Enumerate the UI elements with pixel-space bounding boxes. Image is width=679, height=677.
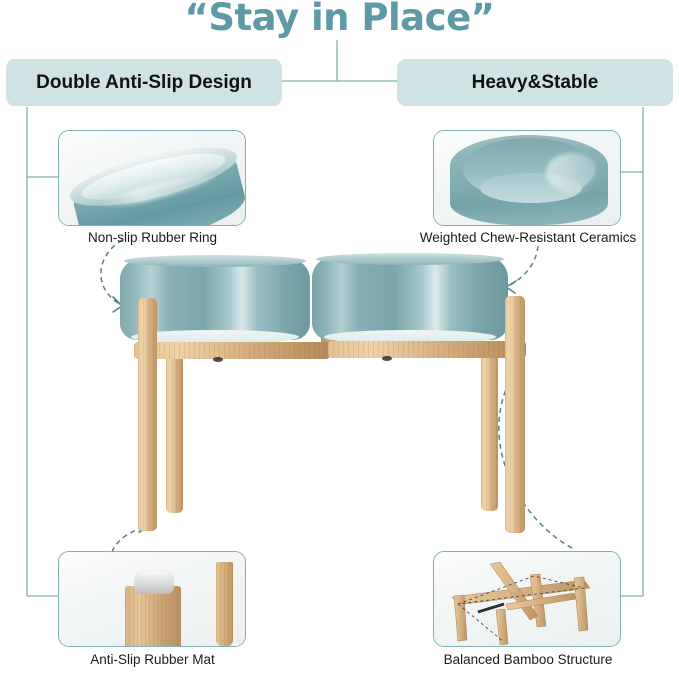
feature-box-label: Heavy&Stable: [472, 72, 599, 94]
callout-image-frame: [58, 551, 246, 647]
photo-bamboo-frame-triangulation: [434, 552, 620, 646]
infographic-canvas: “Stay in Place” Double Anti-Slip Design …: [0, 0, 679, 677]
bowl-tilted-underside-art: [58, 130, 246, 226]
page-title: “Stay in Place”: [0, 0, 679, 39]
bamboo-leg-front-right: [505, 296, 525, 533]
bamboo-frame-art: [434, 552, 620, 646]
callout-caption: Balanced Bamboo Structure: [408, 652, 648, 667]
bamboo-leg-secondary-art: [216, 562, 233, 646]
callout-image-frame: [433, 130, 621, 226]
photo-ceramic-bowl-interior: [434, 131, 620, 225]
callout-caption: Anti-Slip Rubber Mat: [58, 652, 247, 667]
bamboo-leg-back-right: [481, 351, 498, 511]
product-image-elevated-double-bowl-stand: [100, 250, 580, 550]
callout-image-frame: [58, 130, 246, 226]
feature-box-label: Double Anti-Slip Design: [36, 72, 252, 94]
photo-bowl-underside-rubber-ring: [59, 131, 245, 225]
bamboo-leg-front-left: [138, 298, 157, 531]
callout-caption: Non-slip Rubber Ring: [58, 230, 247, 245]
feature-box-double-anti-slip-design[interactable]: Double Anti-Slip Design: [6, 59, 282, 106]
photo-bamboo-leg-rubber-foot: [59, 552, 245, 646]
screw-dot-left: [213, 357, 223, 362]
bamboo-leg-back-left: [166, 353, 183, 513]
bowl-interior-art: [450, 133, 608, 226]
callout-caption: Weighted Chew-Resistant Ceramics: [408, 230, 648, 245]
feature-box-heavy-and-stable[interactable]: Heavy&Stable: [397, 59, 673, 106]
ceramic-bowl-right: [312, 256, 508, 340]
bamboo-rail-right: [328, 341, 526, 358]
callout-image-frame: [433, 551, 621, 647]
screw-dot-right: [382, 356, 392, 361]
bamboo-leg-with-foot-art: [125, 570, 181, 647]
bamboo-rail-left: [134, 342, 330, 359]
